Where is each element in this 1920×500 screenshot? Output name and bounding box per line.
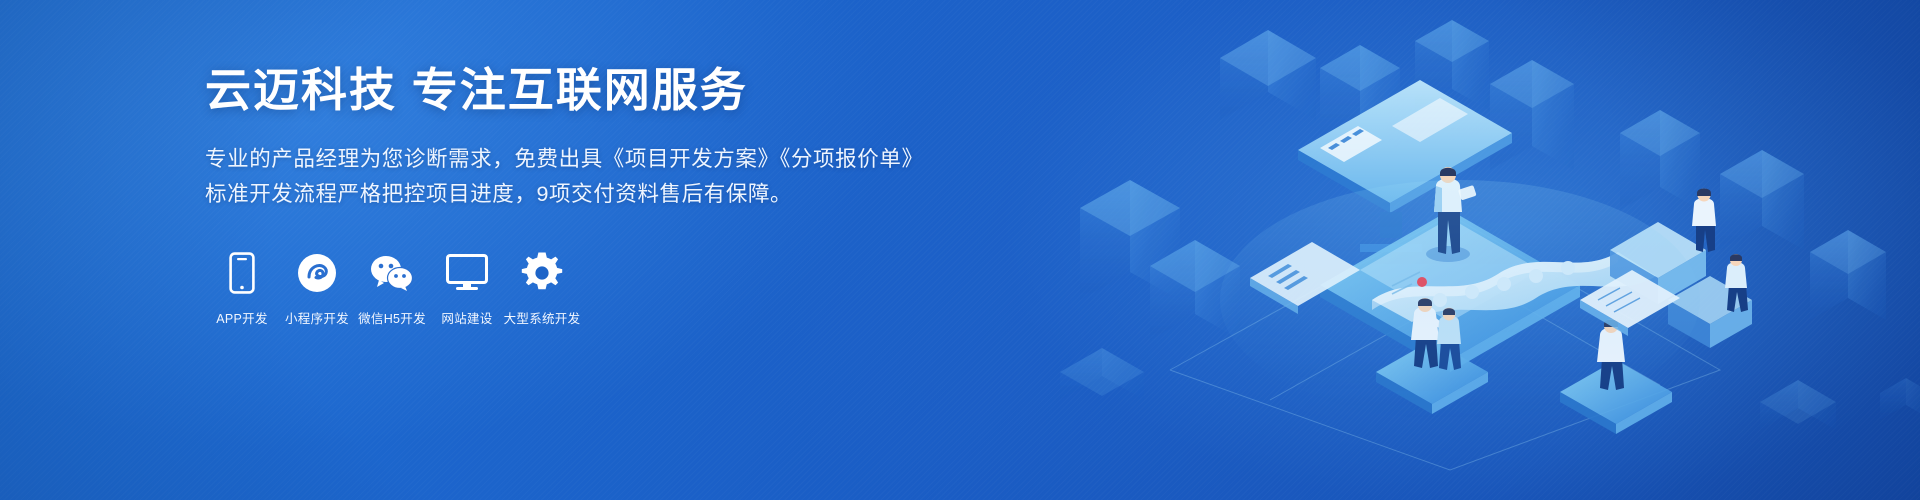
service-item-wechat[interactable]: 微信H5开发 (355, 252, 429, 327)
hero-banner: 云迈科技 专注互联网服务 专业的产品经理为您诊断需求，免费出具《项目开发方案》《… (0, 0, 1920, 500)
service-label: 大型系统开发 (504, 308, 581, 327)
mini-program-icon (297, 252, 337, 294)
subtitle-line-1: 专业的产品经理为您诊断需求，免费出具《项目开发方案》《分项报价单》 (205, 142, 924, 177)
page-title: 云迈科技 专注互联网服务 (205, 66, 924, 114)
service-label: 微信H5开发 (358, 308, 426, 327)
service-label: APP开发 (216, 308, 268, 327)
service-label: 网站建设 (441, 308, 492, 327)
gear-icon (521, 252, 563, 294)
wechat-icon (370, 252, 414, 294)
service-item-app[interactable]: APP开发 (205, 252, 279, 327)
monitor-icon (446, 252, 488, 294)
service-item-mini-program[interactable]: 小程序开发 (280, 252, 354, 327)
service-item-website[interactable]: 网站建设 (430, 252, 504, 327)
service-label: 小程序开发 (285, 308, 349, 327)
mobile-phone-icon (229, 252, 255, 294)
banner-content: 云迈科技 专注互联网服务 专业的产品经理为您诊断需求，免费出具《项目开发方案》《… (205, 66, 924, 327)
subtitle-line-2: 标准开发流程严格把控项目进度，9项交付资料售后有保障。 (205, 177, 924, 212)
isometric-business-analytics-illustration (1020, 0, 1920, 500)
service-item-system[interactable]: 大型系统开发 (505, 252, 579, 327)
service-icon-row: APP开发 小程序开发 (205, 252, 924, 327)
